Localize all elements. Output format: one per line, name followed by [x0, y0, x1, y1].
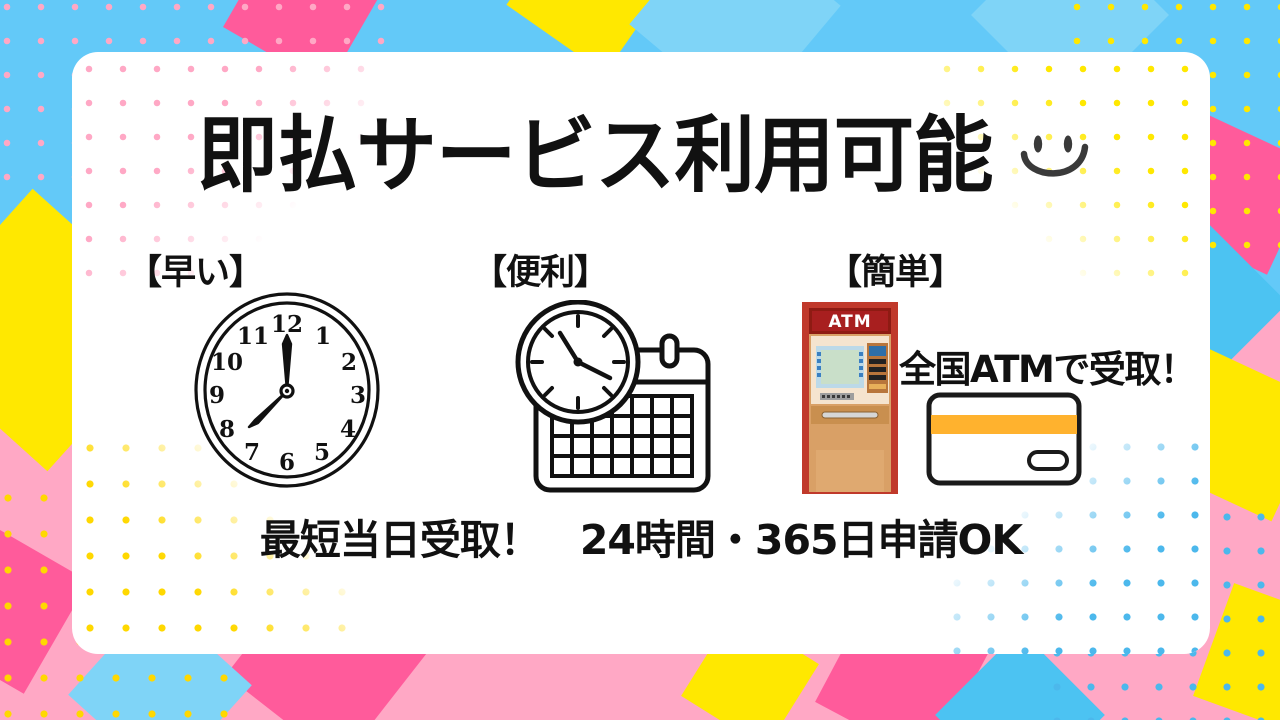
page-title: 即払サービス利用可能	[197, 114, 992, 197]
feature-label-easy: 【簡単】	[827, 244, 963, 295]
card-content: 即払サービス利用可能 【早い】 【便利】 【簡単】 12 1 2 3 4 5	[72, 52, 1210, 654]
svg-text:3: 3	[350, 382, 366, 409]
svg-text:1: 1	[315, 323, 331, 350]
calendar-clock-icon	[510, 300, 730, 500]
svg-text:ATM: ATM	[828, 312, 871, 332]
atm-caption: 全国ATMで受取！	[899, 339, 1195, 393]
headline-row: 即払サービス利用可能	[72, 114, 1210, 197]
atm-machine-icon: ATM	[800, 300, 900, 496]
svg-text:4: 4	[340, 416, 356, 443]
smiley-face-icon	[1011, 129, 1097, 191]
feature-label-fast: 【早い】	[127, 244, 263, 295]
svg-text:2: 2	[341, 349, 357, 376]
footer-text: 最短当日受取！ 24時間・365日申請OK	[72, 506, 1210, 566]
bank-card-icon	[924, 390, 1084, 488]
svg-text:5: 5	[314, 439, 330, 466]
svg-text:7: 7	[244, 439, 260, 466]
svg-text:8: 8	[219, 416, 235, 443]
svg-text:11: 11	[237, 323, 269, 350]
feature-label-convenient: 【便利】	[472, 244, 608, 295]
analog-clock-icon: 12 1 2 3 4 5 6 7 8 9 10 11	[192, 290, 382, 490]
poster-canvas: 即払サービス利用可能 【早い】 【便利】 【簡単】 12 1 2 3 4 5	[0, 0, 1280, 720]
svg-text:6: 6	[279, 449, 295, 476]
svg-text:9: 9	[209, 382, 225, 409]
svg-text:10: 10	[211, 349, 243, 376]
